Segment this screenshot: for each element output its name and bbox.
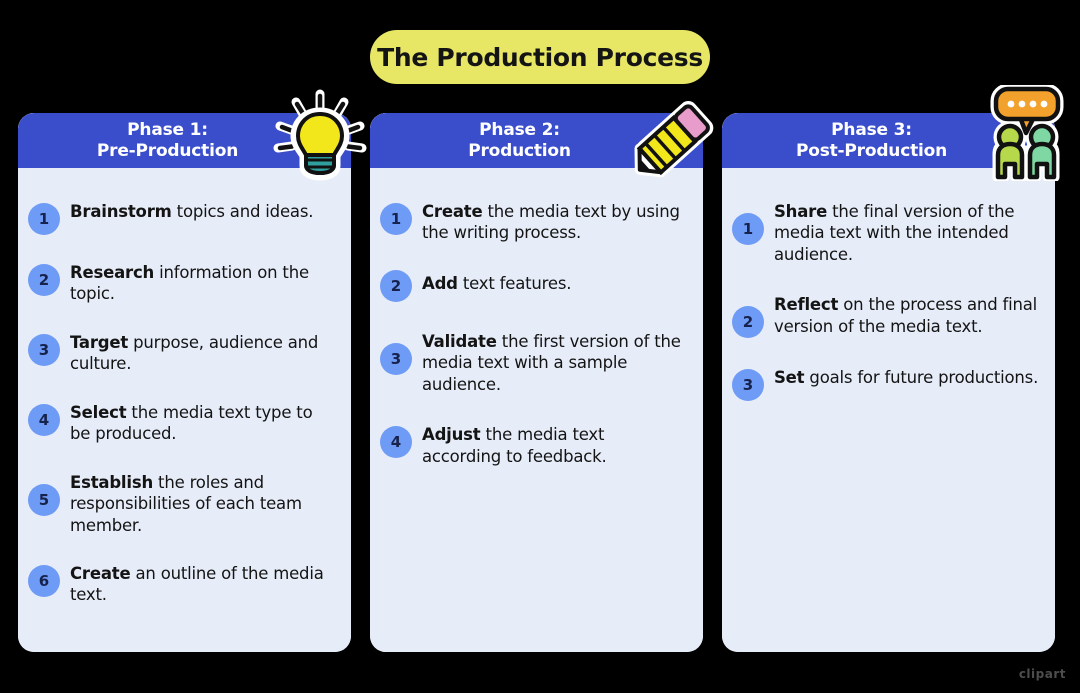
list-item: 1 Create the media text by using the wri… [380, 198, 687, 244]
list-item: 2 Research information on the topic. [28, 259, 335, 305]
step-rest: topics and ideas. [172, 202, 314, 221]
phase-name: Pre-Production [97, 141, 238, 162]
phase-card-2-body: Phase 2: Production 1 Create the media t… [370, 113, 703, 652]
step-rest: goals for future productions. [804, 368, 1038, 387]
list-item: 2 Reflect on the process and final versi… [732, 291, 1039, 338]
page-title: The Production Process [377, 43, 703, 72]
step-text: Add text features. [422, 270, 571, 294]
step-text: Establish the roles and responsibilities… [70, 469, 335, 536]
list-item: 1 Brainstorm topics and ideas. [28, 198, 335, 235]
phase-3-step-list: 1 Share the final version of the media t… [722, 168, 1055, 427]
watermark: clipart [1019, 667, 1066, 681]
step-lead: Create [422, 202, 482, 221]
step-number: 3 [380, 343, 412, 375]
step-number: 1 [732, 213, 764, 245]
phase-card-3: Phase 3: Post-Production 1 Share the fin… [722, 113, 1055, 652]
list-item: 4 Adjust the media text according to fee… [380, 421, 687, 467]
phase-card-1-header: Phase 1: Pre-Production [18, 113, 351, 168]
list-item: 4 Select the media text type to be produ… [28, 399, 335, 445]
step-text: Adjust the media text according to feedb… [422, 421, 687, 467]
step-text: Validate the first version of the media … [422, 328, 687, 395]
step-lead: Set [774, 368, 804, 387]
step-lead: Target [70, 333, 128, 352]
step-number: 2 [732, 306, 764, 338]
step-lead: Establish [70, 473, 153, 492]
list-item: 3 Set goals for future productions. [732, 364, 1039, 401]
step-number: 2 [28, 264, 60, 296]
step-lead: Validate [422, 332, 497, 351]
phase-card-1: Phase 1: Pre-Production 1 Brainstorm top… [18, 113, 351, 652]
list-item: 3 Target purpose, audience and culture. [28, 329, 335, 375]
step-lead: Create [70, 564, 130, 583]
list-item: 6 Create an outline of the media text. [28, 560, 335, 606]
step-number: 4 [28, 404, 60, 436]
step-number: 6 [28, 565, 60, 597]
phase-card-2: Phase 2: Production 1 Create the media t… [370, 113, 703, 652]
step-text: Create an outline of the media text. [70, 560, 335, 606]
phase-label: Phase 1: [97, 120, 238, 141]
list-item: 2 Add text features. [380, 270, 687, 302]
step-number: 1 [380, 203, 412, 235]
step-lead: Select [70, 403, 126, 422]
step-number: 3 [28, 334, 60, 366]
step-lead: Adjust [422, 425, 481, 444]
step-text: Brainstorm topics and ideas. [70, 198, 313, 222]
step-text: Select the media text type to be produce… [70, 399, 335, 445]
step-number: 3 [732, 369, 764, 401]
step-text: Share the final version of the media tex… [774, 198, 1039, 265]
step-lead: Research [70, 263, 154, 282]
phase-2-step-list: 1 Create the media text by using the wri… [370, 168, 703, 493]
phase-1-step-list: 1 Brainstorm topics and ideas. 2 Researc… [18, 168, 351, 630]
step-lead: Share [774, 202, 827, 221]
page-title-pill: The Production Process [370, 30, 710, 84]
step-text: Target purpose, audience and culture. [70, 329, 335, 375]
phase-card-3-body: Phase 3: Post-Production 1 Share the fin… [722, 113, 1055, 652]
step-number: 2 [380, 270, 412, 302]
step-text: Set goals for future productions. [774, 364, 1038, 388]
phase-label: Phase 2: [468, 120, 571, 141]
phase-card-2-header: Phase 2: Production [370, 113, 703, 168]
step-number: 5 [28, 484, 60, 516]
phase-card-1-body: Phase 1: Pre-Production 1 Brainstorm top… [18, 113, 351, 652]
list-item: 3 Validate the first version of the medi… [380, 328, 687, 395]
list-item: 5 Establish the roles and responsibiliti… [28, 469, 335, 536]
step-lead: Reflect [774, 295, 838, 314]
step-text: Research information on the topic. [70, 259, 335, 305]
phase-name: Post-Production [796, 141, 947, 162]
phase-name: Production [468, 141, 571, 162]
step-lead: Add [422, 274, 458, 293]
step-text: Create the media text by using the writi… [422, 198, 687, 244]
step-number: 1 [28, 203, 60, 235]
phase-label: Phase 3: [796, 120, 947, 141]
step-rest: text features. [458, 274, 571, 293]
step-text: Reflect on the process and final version… [774, 291, 1039, 337]
step-number: 4 [380, 426, 412, 458]
step-lead: Brainstorm [70, 202, 172, 221]
list-item: 1 Share the final version of the media t… [732, 198, 1039, 265]
phase-card-3-header: Phase 3: Post-Production [722, 113, 1055, 168]
